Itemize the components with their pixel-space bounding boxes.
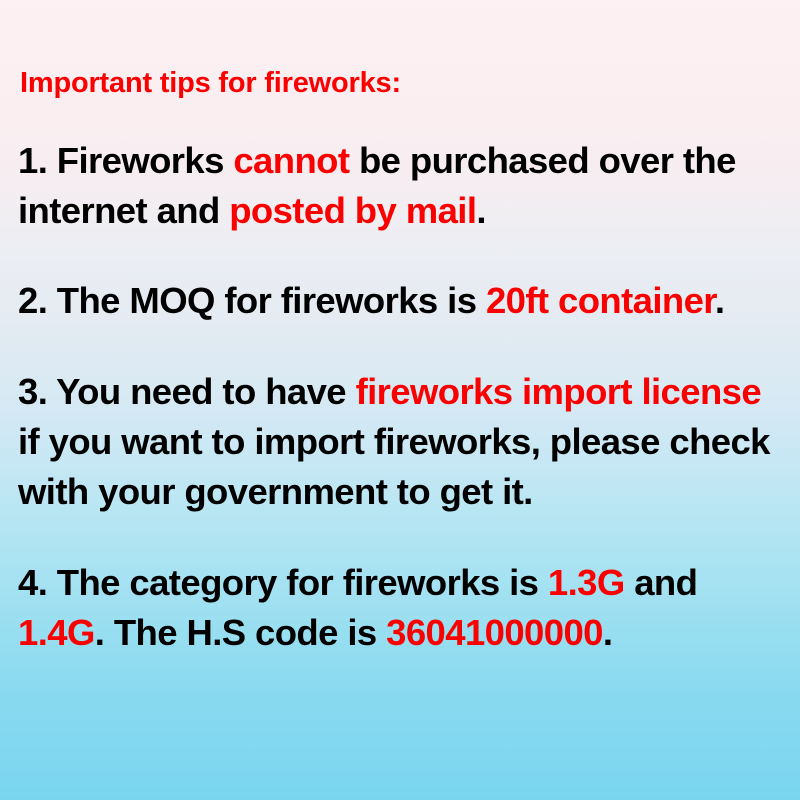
body-text: . bbox=[603, 612, 613, 653]
highlighted-text: 20ft container bbox=[486, 280, 715, 321]
body-text: 4. The category for fireworks is bbox=[18, 562, 548, 603]
highlighted-text: 36041000000 bbox=[386, 612, 603, 653]
page-title: Important tips for fireworks: bbox=[20, 66, 782, 100]
highlighted-text: fireworks import license bbox=[356, 371, 762, 412]
tip-item-3: 3. You need to have fireworks import lic… bbox=[18, 367, 782, 517]
highlighted-text: posted by mail bbox=[229, 190, 476, 231]
body-text: 2. The MOQ for fireworks is bbox=[18, 280, 486, 321]
tip-item-4: 4. The category for fireworks is 1.3G an… bbox=[18, 558, 782, 658]
fireworks-tips-poster: Important tips for fireworks: 1. Firewor… bbox=[0, 0, 800, 800]
highlighted-text: cannot bbox=[233, 140, 349, 181]
body-text: and bbox=[625, 562, 698, 603]
body-text: . The H.S code is bbox=[95, 612, 386, 653]
body-text: 3. You need to have bbox=[18, 371, 356, 412]
body-text: . bbox=[476, 190, 486, 231]
highlighted-text: 1.3G bbox=[548, 562, 625, 603]
body-text: if you want to import fireworks, please … bbox=[18, 421, 770, 512]
body-text: 1. Fireworks bbox=[18, 140, 233, 181]
highlighted-text: 1.4G bbox=[18, 612, 95, 653]
document-body: Important tips for fireworks: 1. Firewor… bbox=[18, 0, 782, 658]
tip-item-2: 2. The MOQ for fireworks is 20ft contain… bbox=[18, 276, 782, 326]
tip-item-1: 1. Fireworks cannot be purchased over th… bbox=[18, 136, 782, 236]
body-text: . bbox=[715, 280, 725, 321]
